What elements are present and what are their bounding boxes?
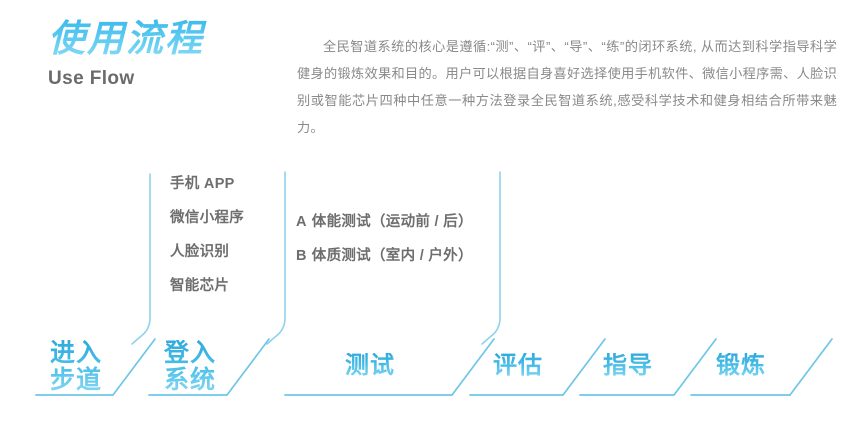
test-option-label: 体质测试（室内 / 户外）: [312, 248, 473, 264]
test-option-label: 体能测试（运动前 / 后）: [312, 214, 473, 230]
flow-step-line2: 步道: [38, 367, 114, 394]
login-method-label: 智能芯片: [170, 278, 229, 294]
test-option-marker: B: [296, 248, 307, 264]
list-item: 微信小程序: [170, 201, 280, 235]
list-item: 智能芯片: [170, 269, 280, 303]
header-block: 使用流程 Use Flow: [48, 18, 288, 90]
flow-step-line2: 系统: [152, 367, 228, 394]
login-methods-column: 手机 APP 微信小程序 人脸识别 智能芯片: [170, 167, 280, 303]
flow-step-line1: 评估: [472, 353, 564, 379]
login-method-label: 手机 APP: [170, 176, 235, 192]
login-method-label: 人脸识别: [170, 244, 229, 260]
flow-step-line1: 登入: [152, 340, 228, 367]
flow-steps-band: 进入 步道 登入 系统 测试 评估 指导 锻炼: [0, 318, 851, 408]
page-title-cn: 使用流程: [48, 18, 288, 61]
flow-step-line1: 测试: [288, 353, 452, 379]
flow-step-3: 测试: [288, 353, 452, 379]
flow-step-4: 评估: [472, 353, 564, 379]
flow-step-1: 进入 步道: [38, 340, 114, 394]
page-title-en: Use Flow: [48, 68, 288, 90]
flow-step-line1: 锻炼: [693, 353, 789, 379]
list-item: A体能测试（运动前 / 后）: [296, 205, 496, 239]
use-flow-infographic: 使用流程 Use Flow 全民智道系统的核心是遵循:“测”、“评”、“导”、“…: [0, 0, 851, 442]
test-option-marker: A: [296, 214, 307, 230]
list-item: B体质测试（室内 / 户外）: [296, 239, 496, 273]
list-item: 手机 APP: [170, 167, 280, 201]
test-options-column: A体能测试（运动前 / 后） B体质测试（室内 / 户外）: [296, 205, 496, 273]
flow-step-6: 锻炼: [693, 353, 789, 379]
login-method-label: 微信小程序: [170, 210, 244, 226]
flow-step-line1: 进入: [38, 340, 114, 367]
flow-step-2: 登入 系统: [152, 340, 228, 394]
flow-step-line1: 指导: [582, 353, 674, 379]
intro-paragraph: 全民智道系统的核心是遵循:“测”、“评”、“导”、“练”的闭环系统, 从而达到科…: [297, 33, 837, 141]
list-item: 人脸识别: [170, 235, 280, 269]
flow-step-5: 指导: [582, 353, 674, 379]
